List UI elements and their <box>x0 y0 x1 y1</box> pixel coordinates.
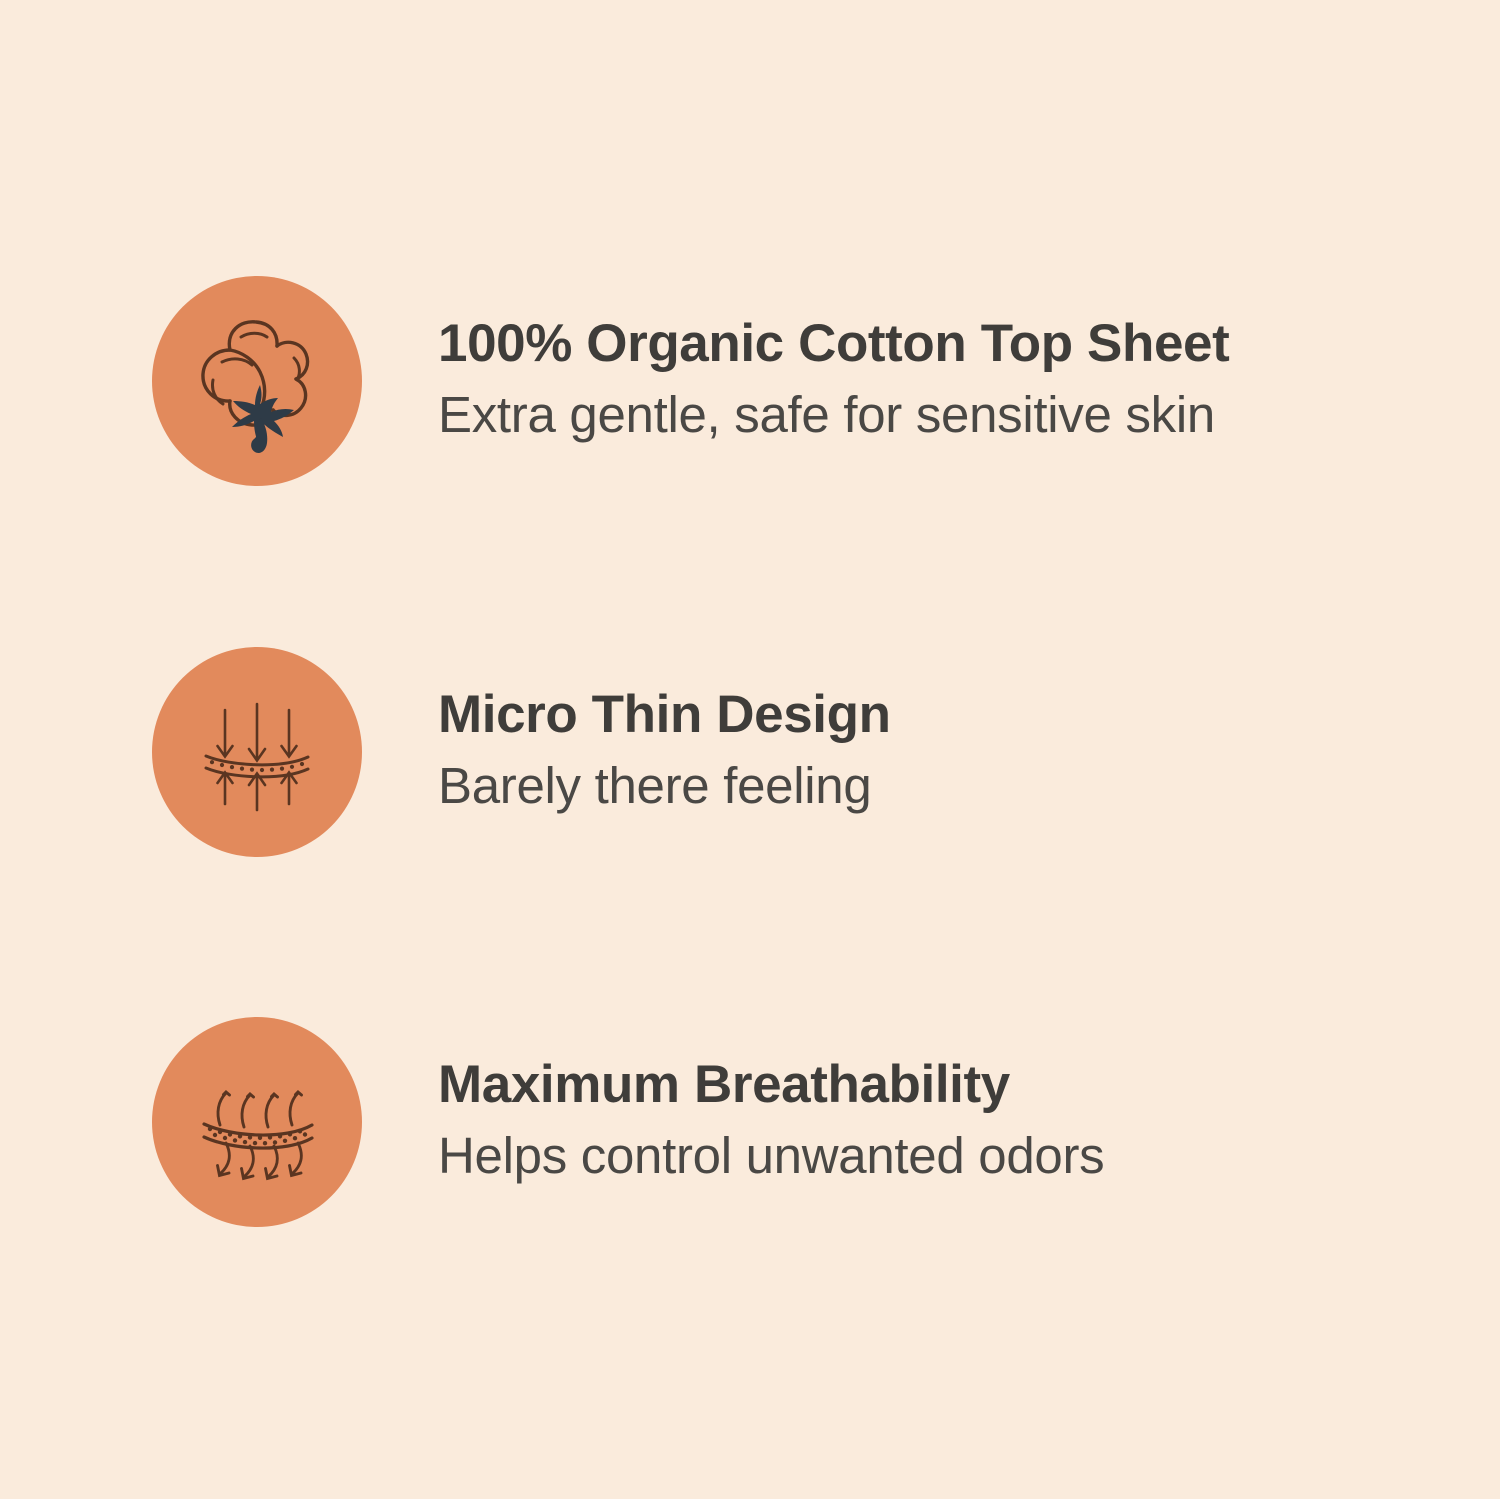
feature-subtitle: Helps control unwanted odors <box>438 1125 1412 1186</box>
feature-title: Maximum Breathability <box>438 1054 1412 1115</box>
feature-text-block: Micro Thin Design Barely there feeling <box>438 684 1412 821</box>
breathable-pad-icon-badge <box>152 1017 362 1227</box>
micro-thin-pad-icon-badge <box>152 647 362 857</box>
feature-panel: 100% Organic Cotton Top Sheet Extra gent… <box>0 0 1500 1499</box>
breathable-pad-icon <box>182 1047 332 1197</box>
feature-subtitle: Barely there feeling <box>438 755 1412 816</box>
cotton-boll-icon <box>182 306 332 456</box>
cotton-boll-icon-badge <box>152 276 362 486</box>
feature-text-block: 100% Organic Cotton Top Sheet Extra gent… <box>438 313 1412 450</box>
feature-title: Micro Thin Design <box>438 684 1412 745</box>
feature-row: Maximum Breathability Helps control unwa… <box>152 1016 1412 1228</box>
feature-row: 100% Organic Cotton Top Sheet Extra gent… <box>152 275 1412 487</box>
feature-subtitle: Extra gentle, safe for sensitive skin <box>438 384 1412 445</box>
micro-thin-pad-icon <box>182 677 332 827</box>
feature-title: 100% Organic Cotton Top Sheet <box>438 313 1412 374</box>
feature-row: Micro Thin Design Barely there feeling <box>152 646 1412 858</box>
feature-text-block: Maximum Breathability Helps control unwa… <box>438 1054 1412 1191</box>
